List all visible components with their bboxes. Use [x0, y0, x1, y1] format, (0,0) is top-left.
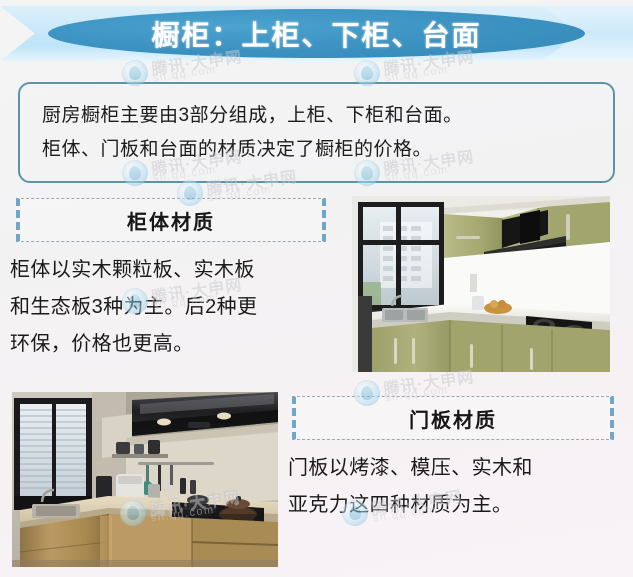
paragraph-line: 和生态板3种为主。后2种更 [10, 289, 336, 326]
green-kitchen-illustration [352, 196, 610, 372]
paragraph-line: 亚克力这四种材质为主。 [288, 487, 622, 524]
intro-text-box: 厨房橱柜主要由3部分组成，上柜、下柜和台面。 柜体、门板和台面的材质决定了橱柜的… [18, 82, 615, 183]
intro-line-1: 厨房橱柜主要由3部分组成，上柜、下柜和台面。 [42, 99, 591, 133]
intro-line-2: 柜体、门板和台面的材质决定了橱柜的价格。 [42, 133, 591, 167]
section-paragraph-door: 门板以烤漆、模压、实木和 亚克力这四种材质为主。 [288, 450, 622, 524]
paragraph-line: 环保，价格也更高。 [10, 326, 336, 363]
page-title: 橱柜：上柜、下柜、台面 [48, 9, 585, 58]
title-banner: 橱柜：上柜、下柜、台面 [0, 0, 633, 68]
section-heading-box-cabinet: 柜体材质 [16, 198, 326, 242]
green-kitchen-photo [352, 196, 610, 372]
section-paragraph-cabinet: 柜体以实木颗粒板、实木板 和生态板3种为主。后2种更 环保，价格也更高。 [10, 252, 336, 363]
tan-kitchen-photo [12, 392, 278, 567]
section-heading-door: 门板材质 [409, 404, 497, 433]
article-page: 橱柜：上柜、下柜、台面 厨房橱柜主要由3部分组成，上柜、下柜和台面。 柜体、门板… [0, 0, 633, 577]
section-heading-cabinet: 柜体材质 [127, 206, 215, 235]
paragraph-line: 门板以烤漆、模压、实木和 [288, 450, 622, 487]
tan-kitchen-illustration [12, 392, 278, 567]
paragraph-line: 柜体以实木颗粒板、实木板 [10, 252, 336, 289]
section-heading-box-door: 门板材质 [292, 396, 614, 440]
